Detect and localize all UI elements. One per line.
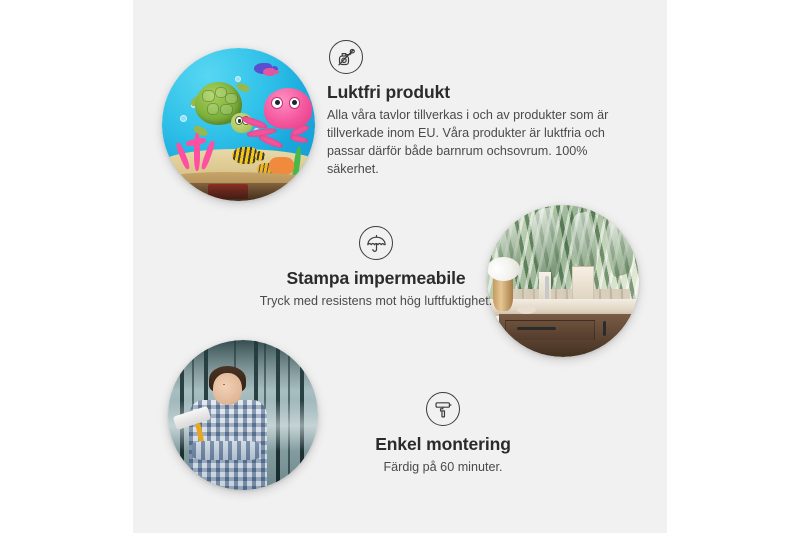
umbrella-icon: [359, 226, 393, 260]
fish-yellow-striped: [232, 147, 256, 164]
painter-forest-scene: [168, 340, 318, 490]
starfish-icon: [269, 157, 293, 175]
faucet-icon: [545, 276, 550, 300]
cabinet-door-handle: [603, 321, 606, 335]
feature-title: Stampa impermeabile: [211, 268, 541, 289]
product-image-painter[interactable]: [168, 340, 318, 490]
feature-description: Alla våra tavlor tillverkas i och av pro…: [327, 107, 627, 179]
coral-branch: [200, 140, 216, 170]
octopus-eye: [289, 97, 301, 109]
feature-description: Tryck med resistens mot hög luftfuktighe…: [211, 293, 541, 311]
turtle-scute: [225, 93, 237, 104]
cabinet-door-handle: [630, 320, 633, 335]
person-smile: [223, 384, 225, 385]
person-folded-arms: [192, 441, 261, 461]
octopus-eye: [271, 97, 283, 109]
fish-pink: [263, 68, 275, 76]
cabinet-drawer: [505, 320, 594, 340]
wood-cabinet: [499, 314, 639, 357]
coral-illustration: [174, 131, 220, 177]
feature-title: Luktfri produkt: [327, 82, 627, 103]
turtle-scute: [207, 103, 219, 114]
person-face: [213, 373, 242, 405]
sea-floor-shadow: [162, 183, 315, 201]
feature-title: Enkel montering: [318, 434, 568, 455]
octopus-arm: [258, 133, 284, 149]
product-image-underwater[interactable]: [162, 48, 315, 201]
feature-odour-free: Luktfri produkt Alla våra tavlor tillver…: [327, 40, 627, 179]
octopus-head: [264, 88, 312, 130]
octopus-arm: [290, 134, 308, 144]
octopus-illustration: [245, 88, 312, 155]
paint-roller-icon: [426, 392, 460, 426]
turtle-scute: [202, 90, 214, 101]
no-fragrance-icon: [329, 40, 363, 74]
feature-easy-assembly: Enkel montering Färdig på 60 minuter.: [318, 392, 568, 477]
underwater-scene: [162, 48, 315, 201]
turtle-scute: [220, 104, 232, 115]
leaf-shape: [599, 215, 639, 278]
screenshot-stage: Luktfri produkt Alla våra tavlor tillver…: [0, 0, 800, 533]
feature-waterproof: Stampa impermeabile Tryck med resistens …: [211, 226, 541, 311]
feature-description: Färdig på 60 minuter.: [318, 459, 568, 477]
drawer-handle: [517, 327, 556, 330]
feature-panel: Luktfri produkt Alla våra tavlor tillver…: [133, 0, 667, 533]
